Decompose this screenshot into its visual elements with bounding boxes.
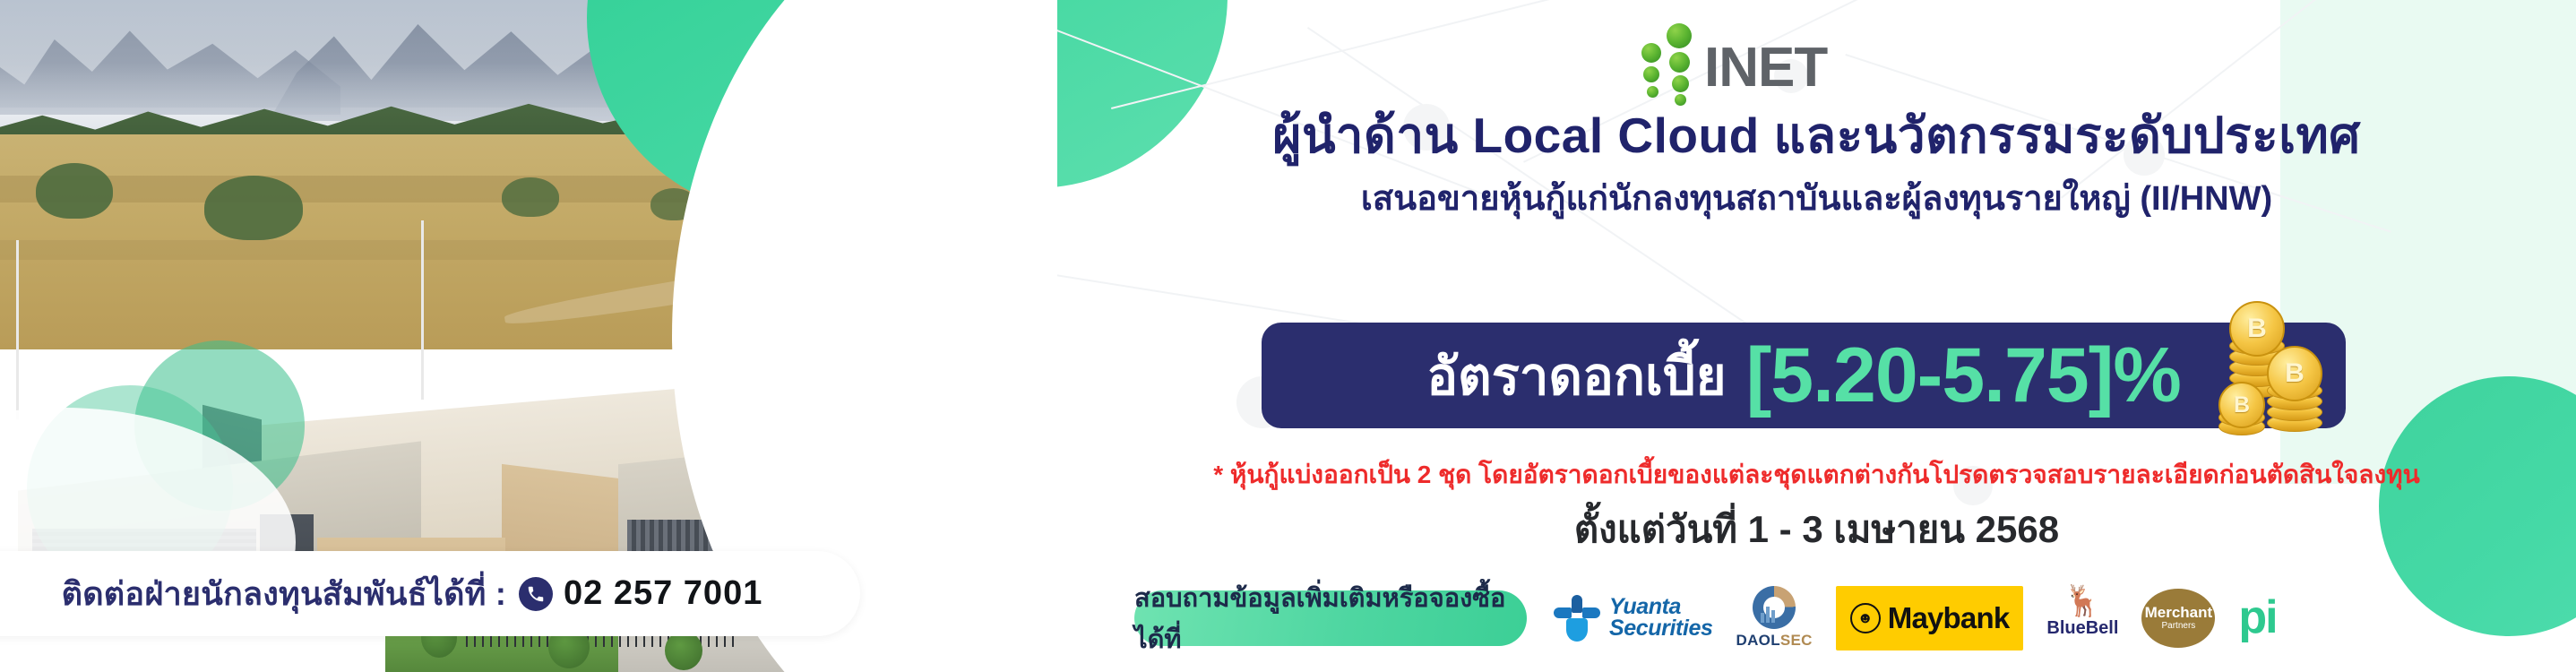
merchant-circle-icon: Merchant Partners (2141, 589, 2215, 648)
bluebell-deer-icon: 🦌 (2063, 586, 2101, 616)
partner-logo-pi[interactable]: pi (2238, 586, 2276, 650)
yuanta-line2: Securities (1609, 618, 1713, 640)
inet-bond-offering-banner: ติดต่อฝ่ายนักลงทุนสัมพันธ์ได้ที่ : 02 25… (0, 0, 2576, 672)
coin-symbol: B (2267, 346, 2322, 401)
daol-circle-icon (1753, 586, 1796, 629)
coin-symbol: B (2229, 301, 2285, 357)
partner-logo-bluebell[interactable]: 🦌 BlueBell (2046, 586, 2118, 650)
partner-logo-merchant-partners[interactable]: Merchant Partners (2141, 586, 2215, 650)
pi-wordmark-icon: pi (2238, 599, 2276, 637)
phone-icon (519, 577, 553, 611)
daol-word2: SEC (1780, 632, 1813, 649)
interest-rate-label: อัตราดอกเบี้ย (1426, 334, 1726, 418)
coin-symbol: B (2218, 382, 2265, 428)
field-tree (502, 177, 559, 217)
inet-logo-text: INET (1704, 42, 1827, 95)
partner-logo-list: Yuanta Securities DAOLSEC (1554, 586, 2277, 650)
page-subtitle: เสนอขายหุ้นกู้แก่นักลงทุนสถาบันและผู้ลงท… (1057, 170, 2576, 225)
interest-rate-badge: อัตราดอกเบี้ย [5.20-5.75]% B B (1262, 323, 2346, 428)
daol-word1: DAOL (1736, 632, 1780, 649)
daol-wordmark: DAOLSEC (1736, 632, 1813, 650)
maybank-wordmark: Maybank (1888, 601, 2010, 635)
field-tree (36, 163, 113, 219)
contact-phone-number[interactable]: 02 257 7001 (564, 574, 762, 613)
utility-pole (16, 240, 19, 419)
investor-relations-contact-box[interactable]: ติดต่อฝ่ายนักลงทุนสัมพันธ์ได้ที่ : 02 25… (0, 551, 860, 636)
promo-content: INET ผู้นำด้าน Local Cloud และนวัตกรรมระ… (1057, 0, 2576, 672)
maybank-tiger-icon: ☻ (1850, 603, 1881, 633)
inquiry-cta-button[interactable]: สอบถามข้อมูลเพิ่มเติมหรือจองซื้อได้ที่ (1134, 590, 1527, 646)
landscape-tree (665, 631, 702, 670)
yuanta-star-icon (1554, 595, 1600, 642)
merchant-line1: Merchant (2145, 605, 2213, 620)
interest-rate-value: [5.20-5.75]% (1746, 337, 2181, 414)
merchant-line2: Partners (2162, 620, 2196, 633)
offering-date-range: ตั้งแต่วันที่ 1 - 3 เมษายน 2568 (1057, 500, 2576, 559)
yuanta-wordmark: Yuanta Securities (1609, 597, 1713, 640)
gold-coin-stack-icon: B B B (2217, 296, 2333, 430)
datacenter-photo-panel: ติดต่อฝ่ายนักลงทุนสัมพันธ์ได้ที่ : 02 25… (0, 0, 1057, 672)
partner-logo-maybank[interactable]: ☻ Maybank (1836, 586, 2024, 650)
bond-disclaimer-text: * หุ้นกู้แบ่งออกเป็น 2 ชุด โดยอัตราดอกเบ… (1057, 455, 2576, 495)
inet-logo[interactable]: INET (1640, 16, 1827, 95)
daol-bars-icon (1761, 607, 1775, 623)
partner-logo-yuanta[interactable]: Yuanta Securities (1554, 586, 1713, 650)
inet-dots-logo-icon (1640, 18, 1702, 95)
field-tree (204, 176, 303, 240)
utility-pole (421, 220, 424, 400)
partner-logo-daol-sec[interactable]: DAOLSEC (1736, 586, 1813, 650)
contact-label: ติดต่อฝ่ายนักลงทุนสัมพันธ์ได้ที่ : (62, 568, 506, 619)
bottom-row: สอบถามข้อมูลเพิ่มเติมหรือจองซื้อได้ที่ Y… (1134, 586, 2568, 650)
bluebell-wordmark: BlueBell (2046, 618, 2118, 639)
page-title: ผู้นำด้าน Local Cloud และนวัตกรรมระดับปร… (1057, 97, 2576, 175)
